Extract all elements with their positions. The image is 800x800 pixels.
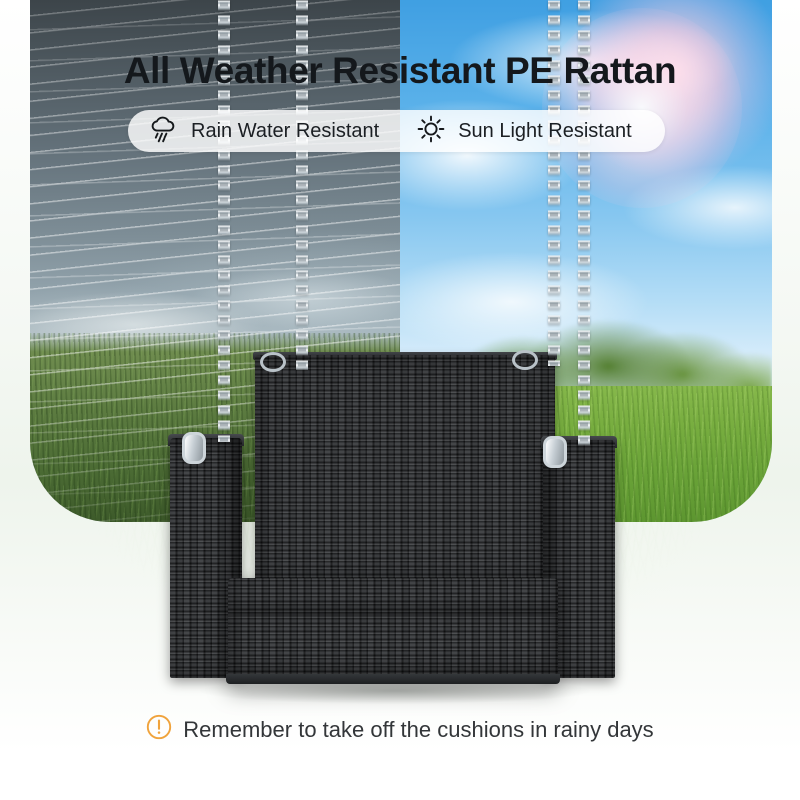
feature-rain-water-resistant: Rain Water Resistant bbox=[128, 110, 379, 152]
page-title: All Weather Resistant PE Rattan bbox=[0, 50, 800, 92]
chain-attachment-ring bbox=[260, 352, 286, 372]
care-note-text: Remember to take off the cushions in rai… bbox=[183, 717, 653, 743]
backrest-panel bbox=[255, 355, 555, 585]
feature-badge-pill: Rain Water Resistant Sun Light Resistant bbox=[128, 110, 665, 152]
care-note: Remember to take off the cushions in rai… bbox=[0, 714, 800, 745]
sun-icon bbox=[417, 115, 445, 148]
feature-sun-light-resistant: Sun Light Resistant bbox=[379, 110, 631, 152]
chain-carabiner-hook bbox=[543, 436, 567, 468]
chain-attachment-ring bbox=[512, 350, 538, 370]
warning-exclamation-icon bbox=[146, 714, 172, 745]
chain-carabiner-hook bbox=[182, 432, 206, 464]
feature-label: Sun Light Resistant bbox=[458, 120, 631, 143]
rain-cloud-icon bbox=[148, 115, 178, 148]
seat-front-rail bbox=[226, 674, 560, 684]
seat-base bbox=[228, 616, 558, 682]
seat-cushion bbox=[228, 578, 558, 620]
product-feature-banner: All Weather Resistant PE Rattan Rain Wat… bbox=[0, 0, 800, 800]
feature-label: Rain Water Resistant bbox=[191, 120, 379, 143]
